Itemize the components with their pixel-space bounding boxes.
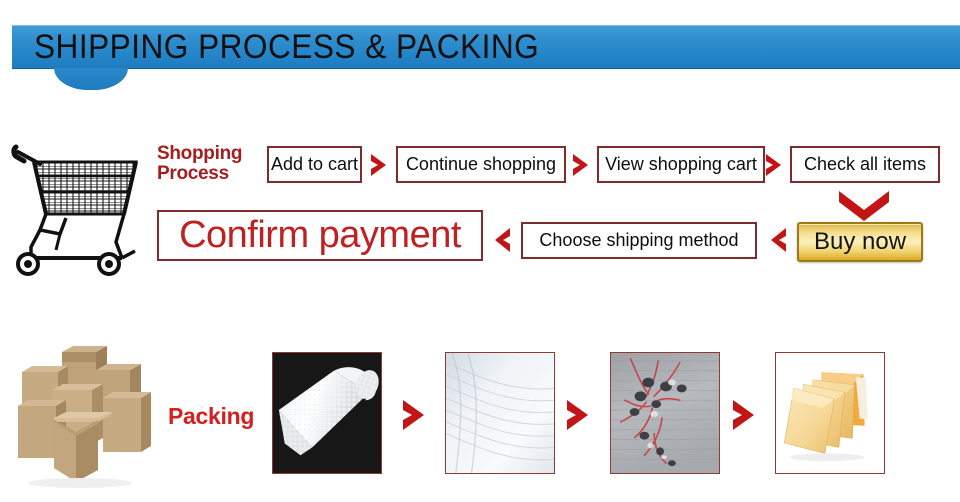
header-banner: SHIPPING PROCESS & PACKING [12, 25, 960, 69]
chevron-right-icon [763, 152, 787, 178]
shopping-process-label: Shopping Process [157, 144, 265, 184]
chevron-right-icon [368, 152, 392, 178]
step-view-shopping-cart[interactable]: View shopping cart [597, 146, 765, 183]
step-check-all-items[interactable]: Check all items [790, 146, 940, 183]
cardboard-boxes-icon [8, 340, 173, 490]
process-label-line1: Shopping [157, 143, 242, 164]
banner-notch-decoration [54, 68, 128, 90]
chevron-right-icon [399, 398, 431, 432]
chevron-down-icon [837, 188, 891, 222]
chevron-left-icon [489, 226, 513, 254]
chevron-right-icon [563, 398, 595, 432]
process-label-line2: Process [157, 164, 265, 184]
step-confirm-payment[interactable]: Confirm payment [157, 210, 483, 261]
chevron-right-icon [729, 398, 761, 432]
packing-image-padded-mailers [775, 352, 885, 474]
step-add-to-cart[interactable]: Add to cart [267, 146, 362, 183]
packing-image-bubble-wrap [272, 352, 382, 474]
packing-image-wrapped-parts [610, 352, 720, 474]
packing-label: Packing [168, 403, 264, 430]
packing-image-protective-film [445, 352, 555, 474]
step-choose-shipping-method[interactable]: Choose shipping method [521, 222, 757, 259]
chevron-right-icon [570, 152, 594, 178]
chevron-left-icon [765, 226, 789, 254]
page-title: SHIPPING PROCESS & PACKING [34, 25, 539, 69]
buy-now-button[interactable]: Buy now [797, 222, 923, 262]
step-continue-shopping[interactable]: Continue shopping [396, 146, 566, 183]
shopping-cart-icon [4, 130, 152, 280]
